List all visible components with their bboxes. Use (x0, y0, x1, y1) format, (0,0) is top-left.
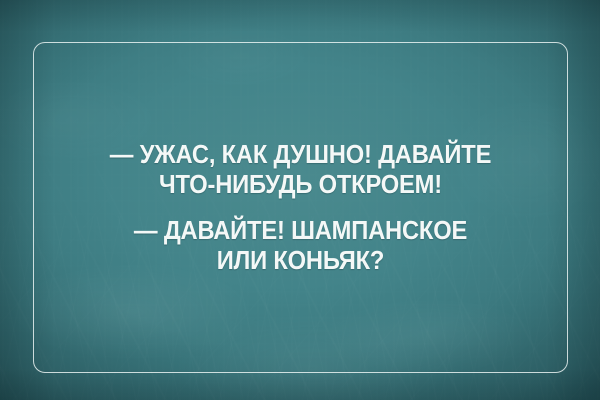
dialogue-line-second: — ДАВАЙТЕ! ШАМПАНСКОЕ ИЛИ КОНЬЯК? (41, 216, 560, 276)
dialogue-line-first: — УЖАС, КАК ДУШНО! ДАВАЙТЕ ЧТО-НИБУДЬ ОТ… (41, 140, 560, 200)
quote-line-4: ИЛИ КОНЬЯК? (59, 246, 542, 276)
quote-line-3: — ДАВАЙТЕ! ШАМПАНСКОЕ (59, 216, 542, 246)
quote-line-1: — УЖАС, КАК ДУШНО! ДАВАЙТЕ (59, 140, 542, 170)
quote-card: — УЖАС, КАК ДУШНО! ДАВАЙТЕ ЧТО-НИБУДЬ ОТ… (0, 0, 600, 400)
quote-text-container: — УЖАС, КАК ДУШНО! ДАВАЙТЕ ЧТО-НИБУДЬ ОТ… (33, 42, 568, 373)
quote-line-2: ЧТО-НИБУДЬ ОТКРОЕМ! (59, 170, 542, 200)
